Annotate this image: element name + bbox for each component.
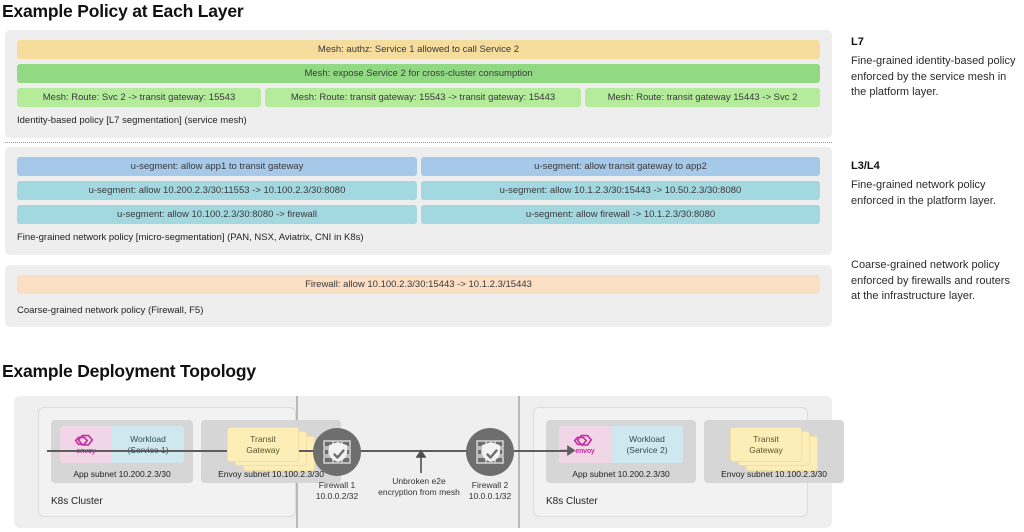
policy-bar-mesh-expose: Mesh: expose Service 2 for cross-cluster… xyxy=(17,64,820,83)
firewall-icon-1 xyxy=(313,428,361,476)
policy-bar-useg-app1: u-segment: allow app1 to transit gateway xyxy=(17,157,417,176)
envoy-label-right: envoy xyxy=(575,448,594,456)
wire-fw1-to-fw2 xyxy=(356,450,471,452)
firewall-address-1: 10.0.0.2/32 xyxy=(316,491,359,502)
envoy-hexagon-icon xyxy=(73,433,99,448)
firewall-node-2: Firewall 2 10.0.0.1/32 xyxy=(466,428,514,476)
firewall-node-1: Firewall 1 10.0.0.2/32 xyxy=(313,428,361,476)
envoy-logo-left: envoy xyxy=(60,426,112,463)
legend-heading-l34: L3/L4 xyxy=(851,160,1019,172)
k8s-cluster-left: envoy Workload (Service 1) App subnet 10… xyxy=(38,407,296,517)
k8s-cluster-right: envoy Workload (Service 2) App subnet 10… xyxy=(533,407,808,517)
policy-bar-mesh-route-1: Mesh: Route: Svc 2 -> transit gateway: 1… xyxy=(17,88,261,107)
firewall-name-2: Firewall 2 xyxy=(469,480,512,491)
firewall-icon-2 xyxy=(466,428,514,476)
app-card-left: envoy Workload (Service 1) xyxy=(60,426,184,463)
transit-gateway-stack-left: Transit Gateway xyxy=(227,427,317,471)
policy-panel-l34: u-segment: allow app1 to transit gateway… xyxy=(5,147,832,255)
cluster-label-left: K8s Cluster xyxy=(51,496,103,507)
policy-bar-useg-net-2: u-segment: allow 10.1.2.3/30:15443 -> 10… xyxy=(421,181,820,200)
arrowhead-to-right-cluster xyxy=(560,444,576,457)
section-divider xyxy=(5,142,832,143)
envoy-subnet-right: Transit Gateway Envoy subnet 10.100.2.3/… xyxy=(704,420,844,483)
e2e-encryption-note: Unbroken e2e encryption from mesh xyxy=(378,476,460,497)
workload-name-right: Workload xyxy=(629,434,665,445)
legend-block-infrastructure: Coarse-grained network policy enforced b… xyxy=(851,258,1019,305)
firewall-caption-1: Firewall 1 10.0.0.2/32 xyxy=(316,480,359,502)
app-subnet-label-left: App subnet 10.200.2.3/30 xyxy=(51,469,193,479)
vertical-guide-right xyxy=(518,396,520,528)
firewall-brick-shield-icon xyxy=(466,428,514,476)
app-card-right: envoy Workload (Service 2) xyxy=(559,426,683,463)
legend-body-l34: Fine-grained network policy enforced in … xyxy=(851,178,1019,209)
tgw-label-line2-left: Gateway xyxy=(246,445,280,456)
cluster-label-right: K8s Cluster xyxy=(546,496,598,507)
firewall-address-2: 10.0.0.1/32 xyxy=(469,491,512,502)
tgw-label-line1-right: Transit xyxy=(753,434,779,445)
policy-panel-l7: Mesh: authz: Service 1 allowed to call S… xyxy=(5,30,832,138)
policy-bar-firewall-rule: Firewall: allow 10.100.2.3/30:15443 -> 1… xyxy=(17,275,820,294)
workload-service-right: (Service 2) xyxy=(626,445,667,456)
legend-block-l7: L7 Fine-grained identity-based policy en… xyxy=(851,36,1019,101)
policy-bar-mesh-authz: Mesh: authz: Service 1 allowed to call S… xyxy=(17,40,820,59)
legend-body-l7: Fine-grained identity-based policy enfor… xyxy=(851,54,1019,101)
policy-bar-mesh-route-2: Mesh: Route: transit gateway: 15543 -> t… xyxy=(265,88,581,107)
transit-gateway-card-front: Transit Gateway xyxy=(730,427,802,462)
policy-caption-l34: Fine-grained network policy [micro-segme… xyxy=(17,232,364,243)
firewall-brick-shield-icon xyxy=(313,428,361,476)
policy-panel-firewall: Firewall: allow 10.100.2.3/30:15443 -> 1… xyxy=(5,265,832,327)
tgw-label-line1-left: Transit xyxy=(250,434,276,445)
policy-section-title: Example Policy at Each Layer xyxy=(2,1,243,22)
transit-gateway-stack-right: Transit Gateway xyxy=(730,427,820,471)
workload-name-left: Workload xyxy=(130,434,166,445)
firewall-name-1: Firewall 1 xyxy=(316,480,359,491)
policy-caption-l7: Identity-based policy [L7 segmentation] … xyxy=(17,115,247,126)
policy-caption-firewall: Coarse-grained network policy (Firewall,… xyxy=(17,305,203,316)
legend-block-l34: L3/L4 Fine-grained network policy enforc… xyxy=(851,160,1019,209)
policy-bar-useg-net-1: u-segment: allow 10.200.2.3/30:11553 -> … xyxy=(17,181,417,200)
policy-bar-useg-net-3: u-segment: allow 10.100.2.3/30:8080 -> f… xyxy=(17,205,417,224)
topology-section-title: Example Deployment Topology xyxy=(2,361,256,382)
tgw-label-line2-right: Gateway xyxy=(749,445,783,456)
firewall-caption-2: Firewall 2 10.0.0.1/32 xyxy=(469,480,512,502)
legend-heading-l7: L7 xyxy=(851,36,1019,48)
envoy-subnet-label-right: Envoy subnet 10.100.2.3/30 xyxy=(704,469,844,479)
workload-tile-right: Workload (Service 2) xyxy=(611,426,683,463)
transit-gateway-card-front: Transit Gateway xyxy=(227,427,299,462)
policy-bar-mesh-route-3: Mesh: Route: transit gateway 15443 -> Sv… xyxy=(585,88,820,107)
legend-body-infrastructure: Coarse-grained network policy enforced b… xyxy=(851,258,1019,305)
e2e-arrow-icon xyxy=(416,447,426,473)
app-subnet-label-right: App subnet 10.200.2.3/30 xyxy=(546,469,696,479)
diagram-page: Example Policy at Each Layer Mesh: authz… xyxy=(0,0,1024,532)
policy-bar-useg-app2: u-segment: allow transit gateway to app2 xyxy=(421,157,820,176)
workload-tile-left: Workload (Service 1) xyxy=(112,426,184,463)
policy-bar-useg-net-4: u-segment: allow firewall -> 10.1.2.3/30… xyxy=(421,205,820,224)
